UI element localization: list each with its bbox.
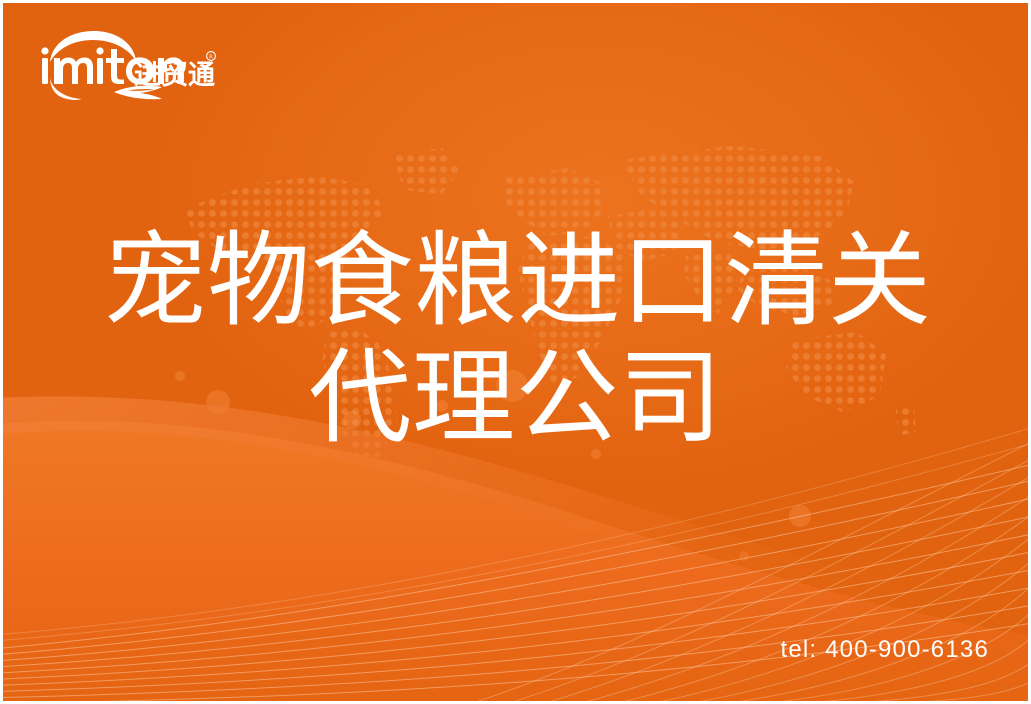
imton-logo[interactable]: 进贸通 R — [36, 28, 216, 102]
svg-text:R: R — [209, 55, 213, 61]
phone-number[interactable]: tel: 400-900-6136 — [780, 636, 989, 664]
headline: 宠物食粮进口清关 代理公司 — [0, 228, 1031, 450]
globe-arc-icon — [50, 31, 136, 62]
headline-line-2: 代理公司 — [0, 345, 1031, 450]
swoosh-ribbon-icon — [114, 86, 162, 100]
headline-line-1: 宠物食粮进口清关 — [4, 228, 1031, 333]
promo-banner: 进贸通 R 宠物食粮进口清关 代理公司 tel: 400-900-6136 — [0, 0, 1031, 704]
